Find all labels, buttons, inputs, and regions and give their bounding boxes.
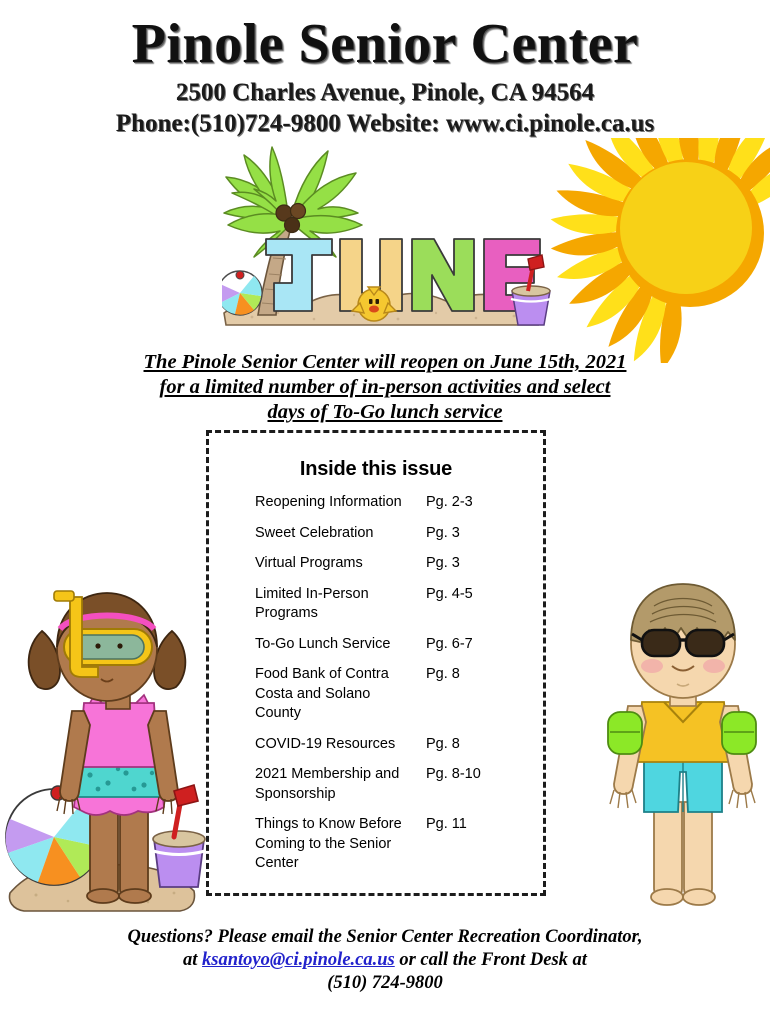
toc-item-label: Food Bank of Contra Costa and Solano Cou…	[255, 665, 426, 724]
footer-line-2-suffix: or call the Front Desk at	[395, 950, 587, 970]
list-item[interactable]: COVID-19 Resources Pg. 8	[255, 735, 543, 755]
list-item[interactable]: Things to Know Before Coming to the Seni…	[255, 815, 543, 874]
toc-list: Reopening Information Pg. 2-3 Sweet Cele…	[209, 493, 543, 874]
toc-item-page: Pg. 8-10	[426, 765, 481, 785]
toc-item-page: Pg. 2-3	[426, 493, 473, 513]
toc-heading: Inside this issue	[209, 457, 543, 481]
toc-item-label: 2021 Membership and Sponsorship	[255, 765, 426, 804]
list-item[interactable]: To-Go Lunch Service Pg. 6-7	[255, 635, 543, 655]
list-item[interactable]: Food Bank of Contra Costa and Solano Cou…	[255, 665, 543, 724]
header-artwork-band	[0, 143, 770, 348]
inside-this-issue-box: Inside this issue Reopening Information …	[206, 430, 546, 896]
announcement-line-2: for a limited number of in-person activi…	[160, 376, 611, 398]
toc-item-page: Pg. 4-5	[426, 585, 473, 605]
list-item[interactable]: Sweet Celebration Pg. 3	[255, 524, 543, 544]
announcement-line-1: The Pinole Senior Center will reopen on …	[144, 351, 627, 373]
toc-item-page: Pg. 11	[426, 815, 467, 835]
toc-item-page: Pg. 3	[426, 524, 460, 544]
toc-item-label: Things to Know Before Coming to the Seni…	[255, 815, 426, 874]
contact-footer: Questions? Please email the Senior Cente…	[55, 926, 715, 995]
toc-item-page: Pg. 3	[426, 554, 460, 574]
masthead: Pinole Senior Center 2500 Charles Avenue…	[0, 0, 770, 139]
footer-line-1: Questions? Please email the Senior Cente…	[128, 927, 643, 947]
toc-item-label: COVID-19 Resources	[255, 735, 426, 755]
girl-snorkeler-illustration	[2, 575, 207, 920]
toc-item-page: Pg. 8	[426, 735, 460, 755]
sun-icon	[540, 138, 770, 363]
footer-line-2-prefix: at	[183, 950, 202, 970]
toc-item-label: To-Go Lunch Service	[255, 635, 426, 655]
list-item[interactable]: 2021 Membership and Sponsorship Pg. 8-10	[255, 765, 543, 804]
toc-item-label: Virtual Programs	[255, 554, 426, 574]
footer-phone: (510) 724-9800	[327, 973, 443, 993]
list-item[interactable]: Reopening Information Pg. 2-3	[255, 493, 543, 513]
center-address: 2500 Charles Avenue, Pinole, CA 94564	[0, 78, 770, 108]
list-item[interactable]: Limited In-Person Programs Pg. 4-5	[255, 585, 543, 624]
announcement-line-3: days of To-Go lunch service	[268, 401, 503, 423]
coordinator-email-link[interactable]: ksantoyo@ci.pinole.ca.us	[202, 950, 395, 970]
center-contact-line: Phone:(510)724-9800 Website: www.ci.pino…	[0, 109, 770, 139]
toc-item-label: Reopening Information	[255, 493, 426, 513]
boy-swimmer-illustration	[592, 572, 770, 922]
reopening-announcement: The Pinole Senior Center will reopen on …	[85, 350, 685, 425]
toc-item-label: Limited In-Person Programs	[255, 585, 426, 624]
toc-item-page: Pg. 8	[426, 665, 460, 685]
page-title: Pinole Senior Center	[0, 12, 770, 76]
toc-item-page: Pg. 6-7	[426, 635, 473, 655]
june-beach-banner-icon	[222, 143, 552, 343]
list-item[interactable]: Virtual Programs Pg. 3	[255, 554, 543, 574]
toc-item-label: Sweet Celebration	[255, 524, 426, 544]
